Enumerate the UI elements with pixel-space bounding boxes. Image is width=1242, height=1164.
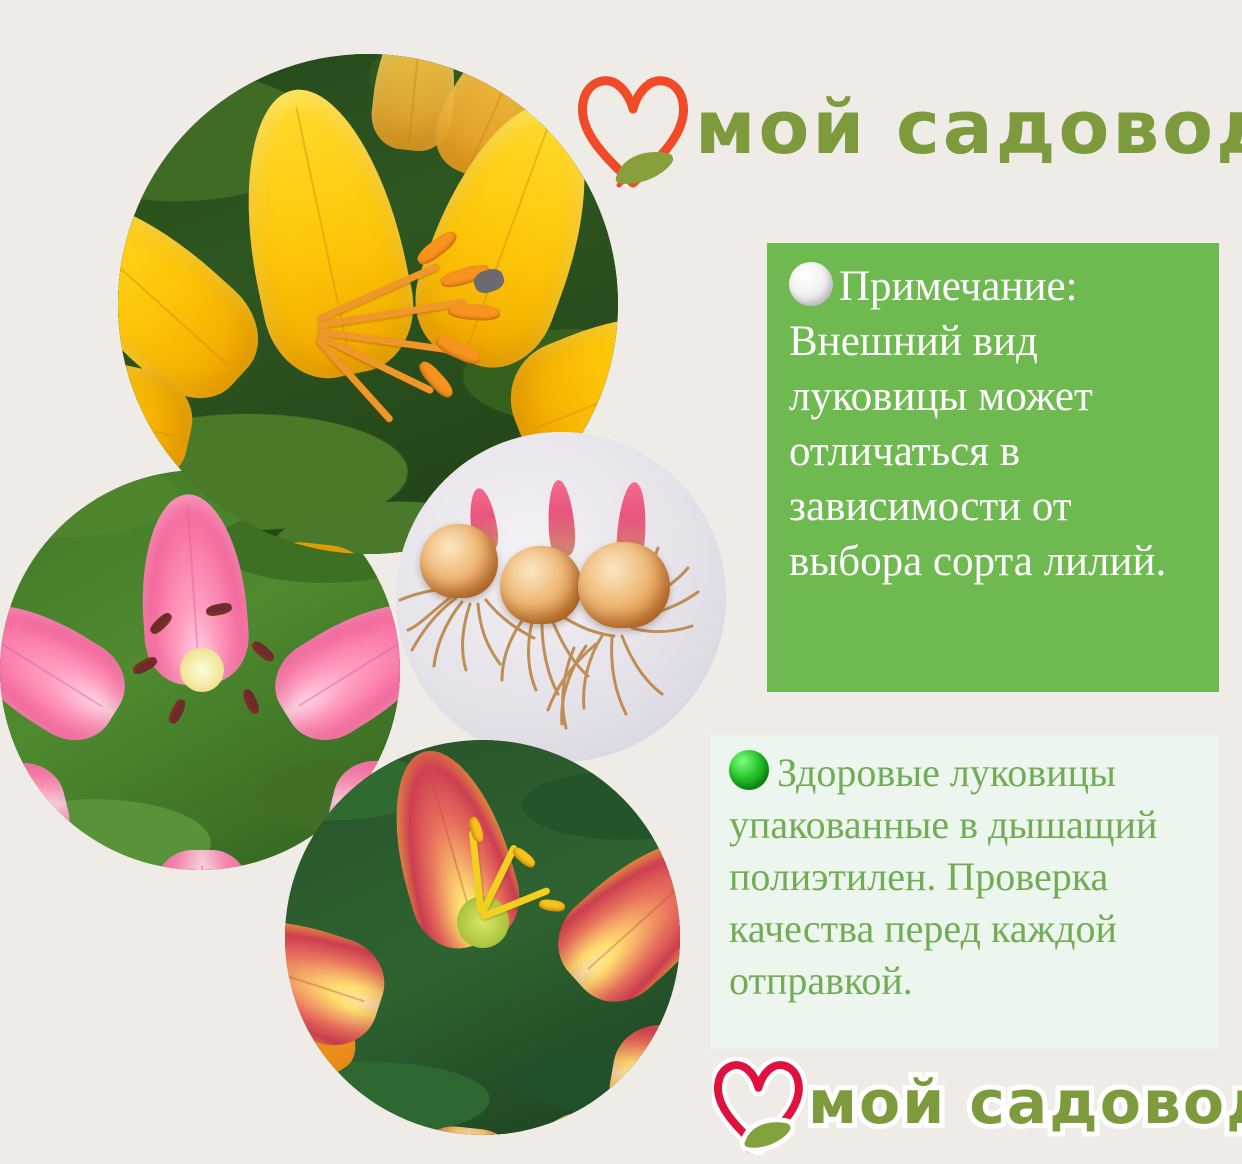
quality-text: Здоровые луковицы упакованные в дышащий …	[711, 735, 1219, 1007]
brand-logo-top: мой садовод	[575, 58, 1230, 198]
bulb	[500, 546, 582, 624]
note-text: Примечание: Внешний вид луковицы может о…	[767, 243, 1219, 589]
bicolor-lily-scene	[285, 740, 680, 1135]
leaf-icon	[712, 1051, 808, 1155]
bulbs-scene	[396, 432, 726, 762]
note-full-text: Примечание: Внешний вид луковицы может о…	[789, 263, 1166, 585]
brand-name: мой садовод	[808, 1073, 1242, 1133]
brand-logo-bottom: мой садовод	[712, 1047, 1222, 1159]
bulb	[578, 542, 670, 628]
white-circle-icon	[789, 262, 833, 306]
flower-center	[180, 648, 224, 692]
quality-callout-box: Здоровые луковицы упакованные в дышащий …	[711, 735, 1219, 1049]
leaf-icon	[575, 65, 695, 191]
quality-full-text: Здоровые луковицы упакованные в дышащий …	[729, 750, 1157, 1003]
green-circle-icon	[729, 750, 769, 790]
heart-leaf-logo-mark	[712, 1051, 808, 1155]
photo-lily-bulbs	[396, 432, 726, 762]
photo-bicolor-lily	[285, 740, 680, 1135]
note-callout-box: Примечание: Внешний вид луковицы может о…	[767, 243, 1219, 692]
heart-leaf-logo-mark	[575, 65, 695, 191]
brand-name: мой садовод	[695, 91, 1242, 165]
bulb	[420, 524, 498, 598]
poster-canvas: мой садовод Примечание: Внешний вид луко…	[0, 0, 1242, 1164]
